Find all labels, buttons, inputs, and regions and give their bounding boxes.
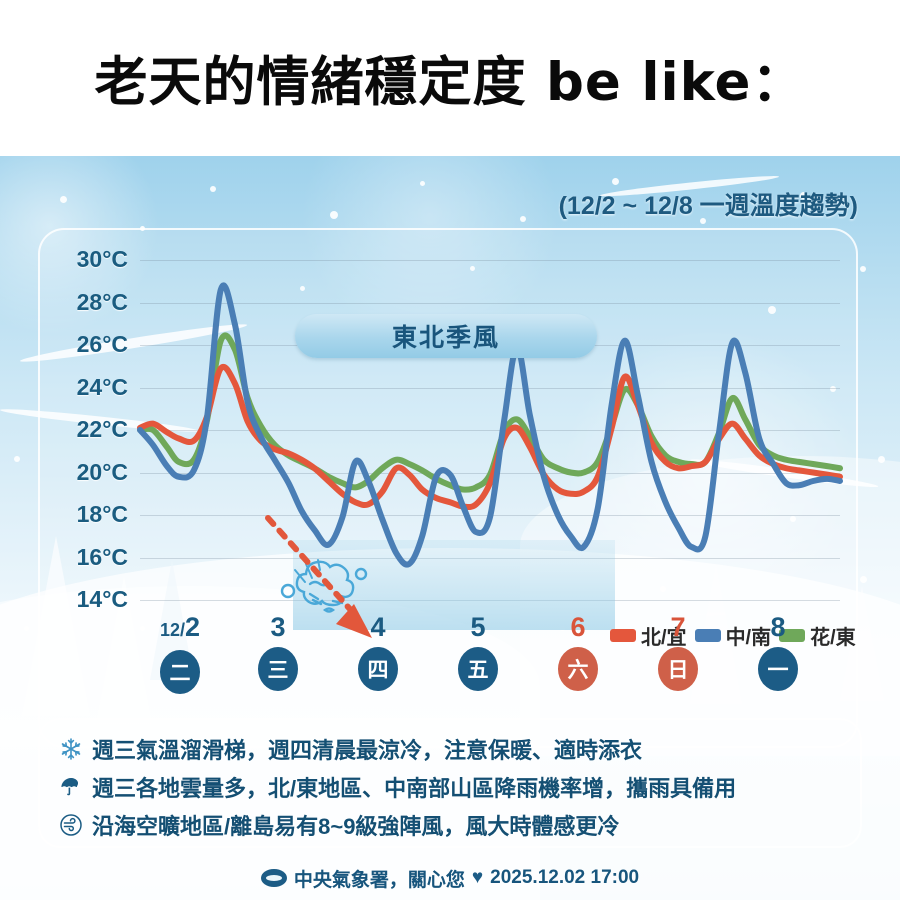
- heart-icon: ♥: [472, 867, 483, 889]
- x-axis-date-label: 12/12/22: [135, 612, 225, 645]
- note-row: 沿海空曠地區/離島易有8~9級強陣風，風大時體感更冷: [58, 806, 842, 844]
- snow-dot: [860, 576, 867, 583]
- y-axis-label: 24°C: [77, 374, 128, 401]
- x-axis-date-label: 4: [333, 612, 423, 642]
- snow-dot: [14, 456, 20, 462]
- wind-icon: [58, 812, 84, 838]
- snow-dot: [24, 626, 29, 631]
- title-band: 老天的情緒穩定度 be like：: [0, 0, 900, 156]
- note-text: 週三各地雲量多，北/東地區、中南部山區降雨機率增，攜雨具備用: [92, 771, 736, 803]
- monsoon-banner-label: 東北季風: [392, 318, 500, 354]
- timestamp-label: 2025.12.02 17:00: [490, 867, 639, 889]
- snow-dot: [330, 211, 338, 219]
- monsoon-banner: 東北季風: [295, 314, 597, 358]
- snow-dot: [60, 196, 67, 203]
- y-axis-label: 18°C: [77, 501, 128, 528]
- note-row: 週三各地雲量多，北/東地區、中南部山區降雨機率增，攜雨具備用: [58, 768, 842, 806]
- snow-dot: [860, 266, 866, 272]
- gridline: [140, 600, 840, 601]
- x-axis-date-label: 8: [733, 612, 823, 642]
- temperature-line-chart: [140, 260, 840, 600]
- footer: 中央氣象署，關心您 ♥ 2025.12.02 17:00: [0, 856, 900, 900]
- weekday-badge: 四: [358, 647, 398, 691]
- x-axis-tick: 3 三: [233, 612, 323, 691]
- x-axis-tick: 12/12/22 二: [135, 612, 225, 694]
- x-axis-date-label: 7: [633, 612, 723, 642]
- snow-dot: [210, 186, 216, 192]
- agency-label: 中央氣象署，關心您: [294, 865, 465, 892]
- note-text: 週三氣溫溜滑梯，週四清晨最涼冷，注意保暖、適時添衣: [92, 733, 642, 765]
- x-axis-tick: 6 六: [533, 612, 623, 691]
- x-axis-date-label: 3: [233, 612, 323, 642]
- snow-dot: [520, 216, 526, 222]
- y-axis-label: 14°C: [77, 586, 128, 613]
- note-text: 沿海空曠地區/離島易有8~9級強陣風，風大時體感更冷: [92, 809, 619, 841]
- weekday-badge: 日: [658, 647, 698, 691]
- weekday-badge: 二: [160, 650, 200, 694]
- forecast-notes-box: 週三氣溫溜滑梯，週四清晨最涼冷，注意保暖、適時添衣 週三各地雲量多，北/東地區、…: [38, 718, 862, 848]
- x-axis-date-label: 5: [433, 612, 523, 642]
- y-axis-label: 28°C: [77, 289, 128, 316]
- chart-plot-area: 30°C28°C26°C24°C22°C20°C18°C16°C14°C: [140, 260, 840, 600]
- weekday-badge: 三: [258, 647, 298, 691]
- chart-subtitle: (12/2 ~ 12/8 一週溫度趨勢): [559, 186, 858, 222]
- umbrella-icon: [58, 774, 84, 800]
- cwa-logo-icon: [261, 869, 287, 887]
- weekday-badge: 五: [458, 647, 498, 691]
- x-axis-tick: 5 五: [433, 612, 523, 691]
- x-axis-tick: 8 一: [733, 612, 823, 691]
- x-axis-date-label: 6: [533, 612, 623, 642]
- y-axis-label: 26°C: [77, 331, 128, 358]
- note-row: 週三氣溫溜滑梯，週四清晨最涼冷，注意保暖、適時添衣: [58, 730, 842, 768]
- snow-dot: [420, 181, 425, 186]
- snow-dot: [612, 178, 619, 185]
- weather-infographic-panel: (12/2 ~ 12/8 一週溫度趨勢) 30°C28°C26°C24°C22°…: [0, 156, 900, 900]
- y-axis-label: 16°C: [77, 544, 128, 571]
- snowflake-icon: [58, 736, 84, 762]
- x-axis-tick: 4 四: [333, 612, 423, 691]
- y-axis-label: 30°C: [77, 246, 128, 273]
- y-axis-label: 20°C: [77, 459, 128, 486]
- snow-dot: [878, 456, 885, 463]
- x-axis: 12/12/22 二 3 三 4 四 5 五 6 六 7 日: [140, 612, 840, 722]
- weekday-badge: 一: [758, 647, 798, 691]
- temperature-chart-card: 30°C28°C26°C24°C22°C20°C18°C16°C14°C 東北季…: [38, 228, 858, 748]
- page-title: 老天的情緒穩定度 be like：: [95, 40, 806, 116]
- weekday-badge: 六: [558, 647, 598, 691]
- y-axis-label: 22°C: [77, 416, 128, 443]
- x-axis-tick: 7 日: [633, 612, 723, 691]
